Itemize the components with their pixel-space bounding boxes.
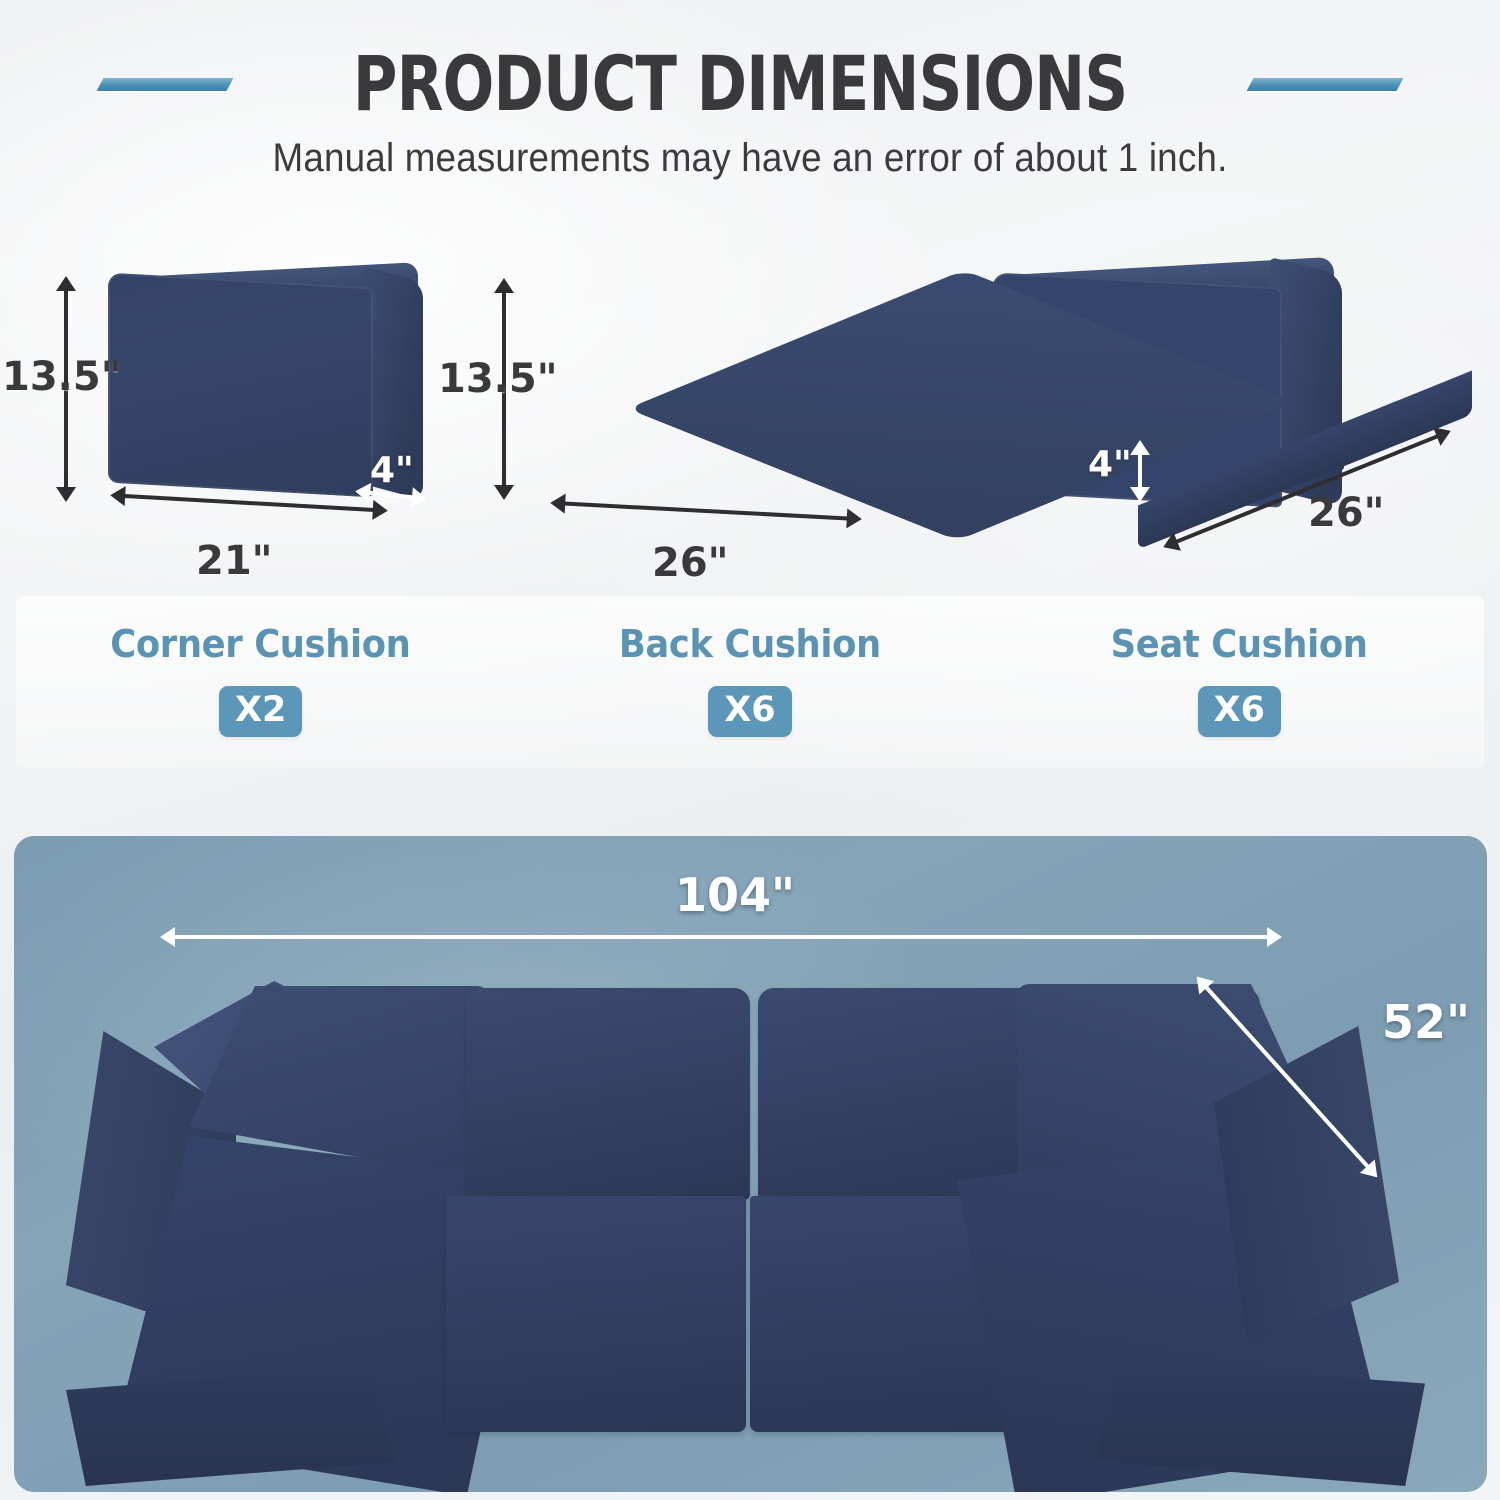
- decorative-dash-left-icon: [96, 78, 233, 91]
- corner-height-label: 13.5": [2, 354, 122, 400]
- corner-cushion-front-face: [108, 273, 373, 498]
- title-row: PRODUCT DIMENSIONS: [0, 38, 1500, 130]
- back-width-arrow: [550, 490, 863, 532]
- sofa-seat-pad: [446, 1196, 746, 1432]
- decorative-dash-right-icon: [1247, 78, 1404, 91]
- back-height-label: 13.5": [438, 356, 558, 402]
- label-cell-corner-cushion: Corner Cushion X2: [16, 596, 505, 768]
- corner-cushion-name: Corner Cushion: [111, 622, 411, 666]
- corner-depth-label: 4": [370, 450, 414, 491]
- sofa-width-label: 104": [675, 868, 795, 922]
- corner-cushion-count-badge: X2: [219, 686, 302, 737]
- cushion-diagrams: 13.5" 21" 4" 13.5" 26": [0, 250, 1500, 590]
- corner-width-label: 21": [196, 538, 273, 584]
- sofa-depth-label: 52": [1382, 995, 1470, 1049]
- sofa-width-arrow: [160, 924, 1282, 950]
- seat-cushion-name: Seat Cushion: [1111, 622, 1368, 666]
- diagram-seat-cushion: 4" 26": [940, 250, 1500, 590]
- sofa-back-pillow: [758, 988, 1040, 1200]
- diagram-corner-cushion: 13.5" 21" 4": [0, 250, 470, 590]
- cushion-label-band: Corner Cushion X2 Back Cushion X6 Seat C…: [16, 596, 1484, 768]
- page-title: PRODUCT DIMENSIONS: [353, 46, 1128, 122]
- label-cell-seat-cushion: Seat Cushion X6: [995, 596, 1484, 768]
- header: PRODUCT DIMENSIONS Manual measurements m…: [0, 38, 1500, 181]
- label-cell-back-cushion: Back Cushion X6: [505, 596, 994, 768]
- back-cushion-count-badge: X6: [708, 686, 791, 737]
- seat-cushion-count-badge: X6: [1198, 686, 1281, 737]
- back-cushion-name: Back Cushion: [619, 622, 881, 666]
- back-width-label: 26": [652, 540, 729, 586]
- seat-width-label: 26": [1308, 490, 1385, 536]
- sofa-back-pillow: [466, 988, 750, 1200]
- seat-thickness-label: 4": [1088, 444, 1132, 485]
- subtitle: Manual measurements may have an error of…: [60, 136, 1440, 181]
